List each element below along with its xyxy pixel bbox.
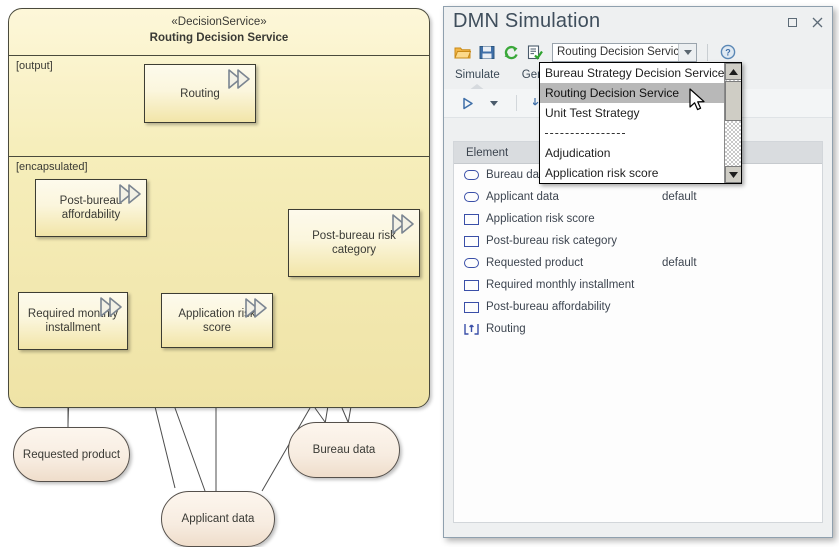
dropdown-item-bureau-strategy[interactable]: Bureau Strategy Decision Service — [540, 63, 741, 83]
dropdown-item-application-risk-score[interactable]: Application risk score — [540, 163, 741, 183]
dropdown-item-unit-test-strategy[interactable]: Unit Test Strategy — [540, 103, 741, 123]
tab-label: Simulate — [455, 69, 500, 81]
decision-node-post-bureau-risk-category[interactable]: Post-bureau risk category — [288, 209, 420, 277]
close-icon — [812, 17, 823, 28]
dropdown-item-routing-decision-service[interactable]: Routing Decision Service — [540, 83, 741, 103]
decision-node-required-monthly-installment[interactable]: Required monthly installment — [18, 292, 128, 350]
dropdown-arrow-icon[interactable] — [484, 94, 503, 113]
mouse-cursor — [689, 88, 709, 114]
element-name: Applicant data — [486, 191, 559, 203]
input-label: Applicant data — [182, 513, 255, 525]
maximize-button[interactable] — [786, 16, 799, 29]
table-row[interactable]: Routing — [454, 318, 822, 340]
refresh-icon[interactable] — [501, 43, 520, 62]
decision-service-combo[interactable]: Routing Decision Servic — [552, 43, 697, 62]
dropdown-scrollbar[interactable] — [724, 63, 741, 183]
maximize-icon — [788, 18, 797, 27]
table-row[interactable]: Post-bureau risk category — [454, 230, 822, 252]
input-node-requested-product[interactable]: Requested product — [13, 427, 130, 482]
run-play-icon[interactable] — [458, 94, 477, 113]
element-name: Requested product — [486, 257, 583, 269]
element-mode: default — [662, 191, 752, 203]
input-label: Bureau data — [313, 444, 376, 456]
dropdown-item-adjudication[interactable]: Adjudication — [540, 143, 741, 163]
decision-node-application-risk-score[interactable]: Application risk score — [161, 293, 273, 348]
table-row[interactable]: Post-bureau affordability — [454, 296, 822, 318]
dmn-simulation-window[interactable]: DMN Simulation — [443, 6, 833, 538]
element-mode: default — [662, 257, 752, 269]
output-decision-icon — [464, 323, 479, 335]
input-node-bureau-data[interactable]: Bureau data — [288, 422, 400, 478]
open-folder-icon[interactable] — [453, 43, 472, 62]
element-name: Post-bureau risk category — [486, 235, 617, 247]
close-button[interactable] — [811, 16, 824, 29]
help-icon[interactable]: ? — [718, 43, 737, 62]
decision-label: Routing — [180, 87, 220, 101]
decision-service-header: «DecisionService» Routing Decision Servi… — [9, 9, 429, 56]
window-title: DMN Simulation — [453, 10, 600, 33]
decision-node-routing[interactable]: Routing — [144, 64, 256, 123]
combo-value: Routing Decision Servic — [553, 46, 679, 58]
input-data-icon — [464, 192, 479, 202]
decision-marker-icon — [117, 182, 143, 206]
input-node-applicant-data[interactable]: Applicant data — [161, 491, 275, 547]
window-titlebar[interactable]: DMN Simulation — [444, 7, 832, 39]
table-row[interactable]: Application risk score — [454, 208, 822, 230]
decision-service-title: Routing Decision Service — [9, 30, 429, 46]
decision-marker-icon — [390, 212, 416, 236]
decision-icon — [464, 236, 479, 247]
toolbar-separator — [707, 44, 708, 61]
decision-node-post-bureau-affordability[interactable]: Post-bureau affordability — [35, 179, 147, 237]
element-name: Post-bureau affordability — [486, 301, 610, 313]
element-name: Application risk score — [486, 213, 595, 225]
decision-icon — [464, 214, 479, 225]
validate-icon[interactable] — [525, 43, 544, 62]
element-name: Required monthly installment — [486, 279, 634, 291]
decision-marker-icon — [243, 296, 269, 320]
svg-text:?: ? — [725, 48, 731, 58]
decision-marker-icon — [98, 295, 124, 319]
scrollbar-thumb[interactable] — [725, 81, 742, 121]
table-row[interactable]: Applicant data default — [454, 186, 822, 208]
decision-service-dropdown[interactable]: Bureau Strategy Decision Service Routing… — [539, 62, 742, 184]
element-name: Routing — [486, 323, 526, 335]
decision-marker-icon — [226, 67, 252, 91]
tab-simulate[interactable]: Simulate — [455, 65, 500, 81]
decision-icon — [464, 280, 479, 291]
dropdown-separator — [540, 123, 741, 143]
scroll-up-arrow-icon[interactable] — [725, 63, 742, 80]
chevron-down-icon[interactable] — [678, 44, 696, 61]
table-row[interactable]: Requested product default — [454, 252, 822, 274]
encapsulated-band-label: [encapsulated] — [16, 161, 88, 173]
element-list-panel[interactable]: Element Bureau data Applicant data defau… — [453, 141, 823, 523]
input-label: Requested product — [23, 449, 120, 461]
save-icon[interactable] — [477, 43, 496, 62]
decision-service-stereotype: «DecisionService» — [9, 15, 429, 30]
subtoolbar-separator — [516, 95, 517, 111]
table-row[interactable]: Required monthly installment — [454, 274, 822, 296]
scroll-down-arrow-icon[interactable] — [725, 166, 742, 183]
output-band-label: [output] — [16, 60, 53, 72]
input-data-icon — [464, 258, 479, 268]
input-data-icon — [464, 170, 479, 180]
decision-icon — [464, 302, 479, 313]
